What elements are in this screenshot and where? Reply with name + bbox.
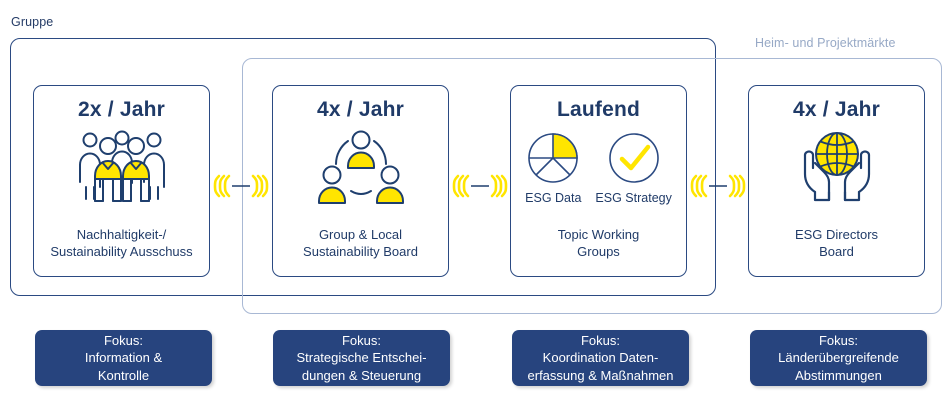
card-title: 4x / Jahr [793,98,880,122]
card-group-local-sustainability-board[interactable]: 4x / Jahr [272,85,449,277]
subicon-label: ESG Data [525,191,581,205]
focus-box-line: dungen & Steuerung [302,367,421,384]
card-caption-line: Sustainability Board [279,243,442,260]
card-caption-line: Topic Working [517,226,680,243]
card-caption: Group & Local Sustainability Board [279,226,442,260]
focus-box-strategische-entscheidungen: Fokus: Strategische Entschei- dungen & S… [273,330,450,386]
subicon-esg-strategy: ESG Strategy [595,130,671,205]
focus-box-line: Strategische Entschei- [296,349,426,366]
focus-box-line: Koordination Daten- [543,349,659,366]
focus-box-laenderuebergreifende-abstimmungen: Fokus: Länderübergreifende Abstimmungen [750,330,927,386]
group-container-gruppe-label: Gruppe [11,15,53,29]
focus-box-line: Fokus: [342,332,381,349]
focus-box-information-kontrolle: Fokus: Information & Kontrolle [35,330,212,386]
focus-box-line: Fokus: [104,332,143,349]
card-caption-line: Groups [517,243,680,260]
card-esg-directors-board[interactable]: 4x / Jahr [748,85,925,277]
card-caption: Nachhaltigkeit-/ Sustainability Ausschus… [40,226,203,260]
focus-box-line: Information & [85,349,162,366]
double-chevron-arrow-icon [210,162,272,210]
subicon-esg-data: ESG Data [525,130,581,205]
focus-box-line: erfassung & Maßnahmen [528,367,674,384]
check-circle-icon [606,130,662,186]
people-group-icon [76,128,168,204]
card-title: 4x / Jahr [317,98,404,122]
pie-chart-icon [525,130,581,186]
card-caption-line: Nachhaltigkeit-/ [40,226,203,243]
card-title: 2x / Jahr [78,98,165,122]
card-title: Laufend [557,98,640,122]
double-chevron-arrow-icon [449,162,511,210]
card-caption-line: Group & Local [279,226,442,243]
focus-box-line: Abstimmungen [795,367,882,384]
card-sustainability-ausschuss[interactable]: 2x / Jahr [33,85,210,277]
card-caption-line: Board [755,243,918,260]
card-topic-working-groups[interactable]: Laufend ESG Data [510,85,687,277]
card-subicons: ESG Data ESG Strategy [525,130,672,205]
group-container-heim-projektmaerkte-label: Heim- und Projektmärkte [755,36,896,50]
diagram-canvas: Gruppe Heim- und Projektmärkte 2x / Jahr [0,0,945,403]
subicon-label: ESG Strategy [595,191,671,205]
focus-box-line: Länderübergreifende [778,349,899,366]
focus-box-koordination-datenerfassung: Fokus: Koordination Daten- erfassung & M… [512,330,689,386]
focus-box-line: Kontrolle [98,367,149,384]
double-chevron-arrow-icon [687,162,749,210]
card-caption-line: Sustainability Ausschuss [40,243,203,260]
people-network-icon [315,128,407,204]
focus-box-line: Fokus: [581,332,620,349]
card-caption: Topic Working Groups [517,226,680,260]
card-caption: ESG Directors Board [755,226,918,260]
hands-globe-icon [791,128,883,204]
focus-box-line: Fokus: [819,332,858,349]
card-caption-line: ESG Directors [755,226,918,243]
